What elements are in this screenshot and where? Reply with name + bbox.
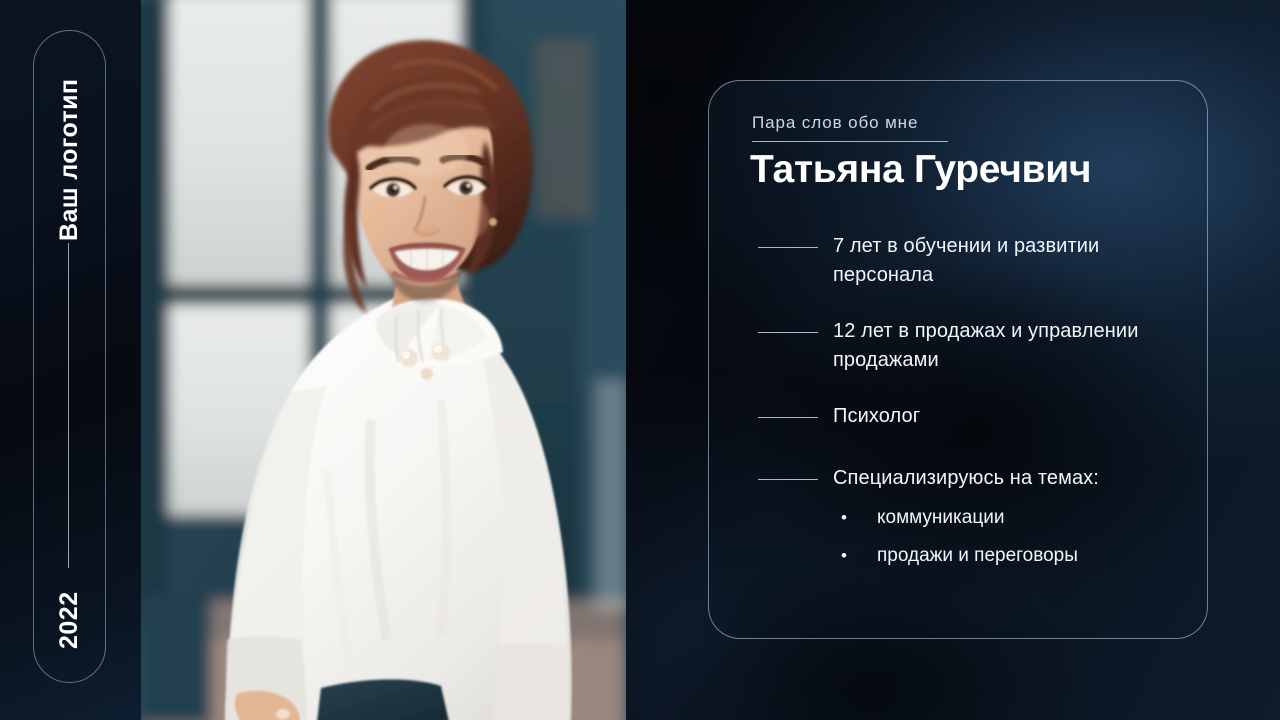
bullet-icon: • bbox=[833, 542, 877, 569]
fact-text: Психолог bbox=[833, 402, 1178, 431]
fact-item: 12 лет в продажах и управлении продажами bbox=[758, 317, 1178, 375]
sublist-item: • продажи и переговоры bbox=[833, 542, 1178, 569]
dash-marker-icon bbox=[758, 332, 818, 333]
sublist-item-label: продажи и переговоры bbox=[877, 542, 1078, 569]
logo-label: Ваш логотип bbox=[33, 30, 106, 290]
fact-body: 7 лет в обучении и развитии персонала bbox=[833, 232, 1178, 290]
eyebrow-underline bbox=[752, 141, 948, 142]
card-eyebrow: Пара слов обо мне bbox=[752, 113, 918, 133]
sublist-item-label: коммуникации bbox=[877, 504, 1004, 531]
fact-body: 12 лет в продажах и управлении продажами bbox=[833, 317, 1178, 375]
fact-item: Специализируюсь на темах: • коммуникации… bbox=[758, 464, 1178, 580]
sublist-item: • коммуникации bbox=[833, 504, 1178, 531]
dash-marker-icon bbox=[758, 479, 818, 480]
fact-item: 7 лет в обучении и развитии персонала bbox=[758, 232, 1178, 290]
dash-marker-icon bbox=[758, 247, 818, 248]
fact-text: Специализируюсь на темах: bbox=[833, 464, 1178, 493]
fact-text: 7 лет в обучении и развитии персонала bbox=[833, 232, 1178, 290]
year-label: 2022 bbox=[33, 565, 106, 675]
fact-list: 7 лет в обучении и развитии персонала 12… bbox=[758, 232, 1178, 580]
fact-body: Специализируюсь на темах: • коммуникации… bbox=[833, 464, 1178, 580]
fact-item: Психолог bbox=[758, 402, 1178, 431]
portrait-photo bbox=[141, 0, 626, 720]
logo-divider-line bbox=[68, 243, 69, 568]
fact-body: Психолог bbox=[833, 402, 1178, 431]
specialization-sublist: • коммуникации • продажи и переговоры bbox=[833, 504, 1178, 569]
slide-root: Ваш логотип 2022 bbox=[0, 0, 1280, 720]
dash-marker-icon bbox=[758, 417, 818, 418]
person-name: Татьяна Гуречвич bbox=[750, 148, 1091, 192]
fact-text: 12 лет в продажах и управлении продажами bbox=[833, 317, 1178, 375]
bullet-icon: • bbox=[833, 504, 877, 531]
